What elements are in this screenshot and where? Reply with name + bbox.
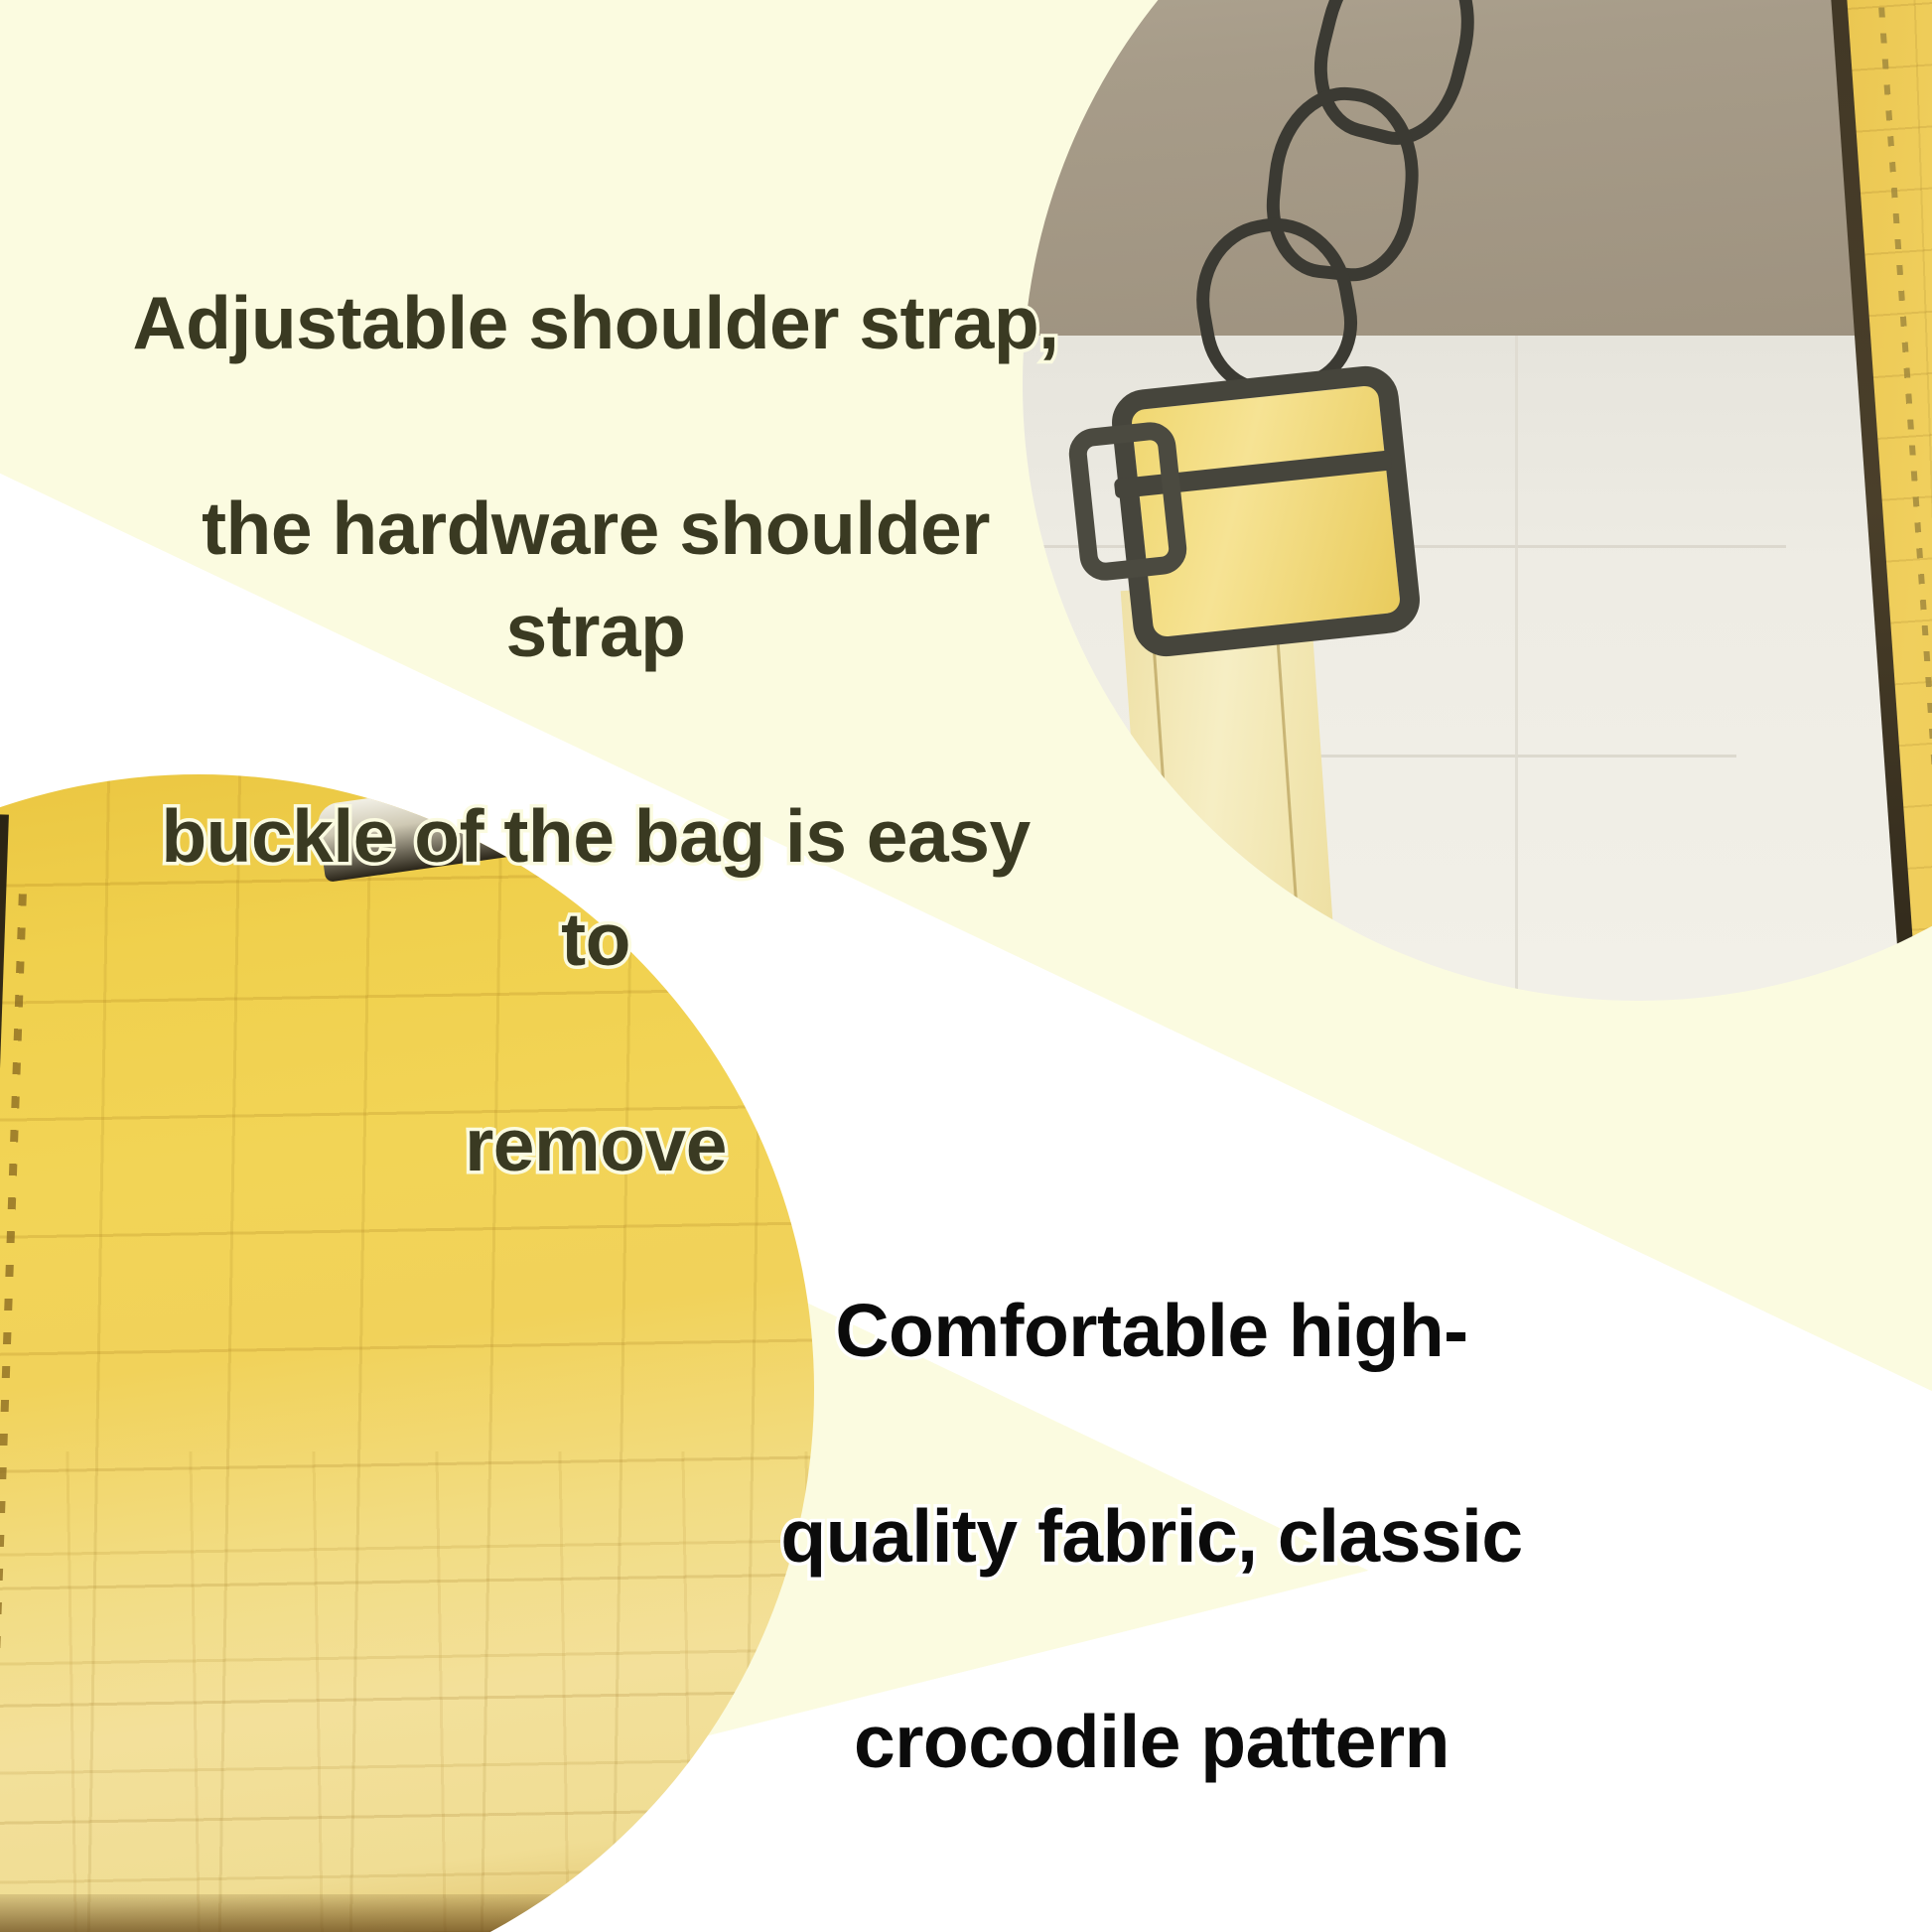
callout-line: buckle of the bag is easy to: [119, 785, 1072, 991]
tile-grout-line: [1515, 336, 1518, 1001]
callout-text-comfortable-fabric: Comfortable high- quality fabric, classi…: [755, 1176, 1549, 1896]
tile-grout-line: [1023, 755, 1736, 758]
shoulder-strap-buckle-photo: [1023, 0, 1932, 1001]
callout-line: quality fabric, classic: [755, 1485, 1549, 1588]
callout-line: the hardware shoulder strap: [119, 478, 1072, 683]
callout-line: Adjustable shoulder strap,: [119, 272, 1072, 375]
wall-upper-surface: [1023, 0, 1932, 348]
crocodile-texture: [0, 1451, 814, 1932]
callout-text-adjustable-strap: Adjustable shoulder strap, the hardware …: [119, 169, 1072, 1300]
callout-line: crocodile pattern: [755, 1691, 1549, 1794]
callout-line: Comfortable high-: [755, 1280, 1549, 1383]
strap-buckle-tab: [1066, 420, 1189, 583]
bag-base-shadow: [0, 1894, 814, 1932]
product-feature-banner: Adjustable shoulder strap, the hardware …: [0, 0, 1932, 1932]
